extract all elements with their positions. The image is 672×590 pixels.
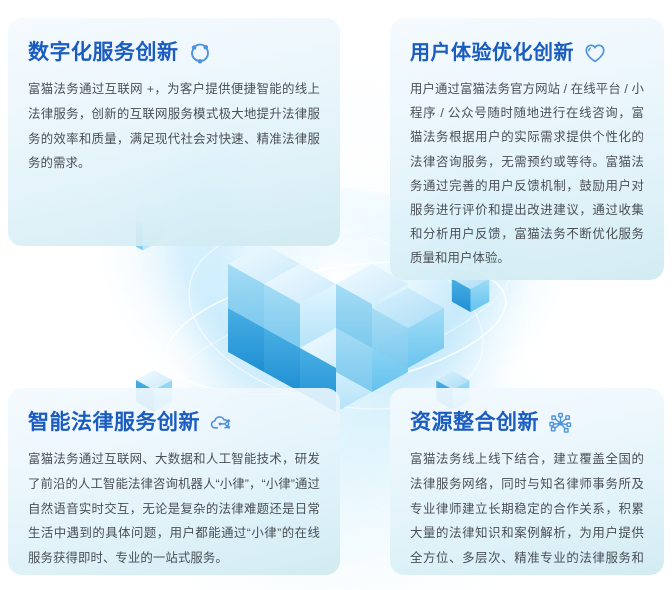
card-body: 富猫法务通过互联网 +，为客户提供便捷智能的线上法律服务，创新的互联网服务模式极… [28,77,320,176]
card-header: 数字化服务创新 [28,40,320,66]
page-root: 数字化服务创新 富猫法务通过互联网 +，为客户提供便捷智能的线上法律服务，创新的… [0,0,672,590]
card-header: 智能法律服务创新 [28,410,320,436]
card-body: 富猫法务线上线下结合，建立覆盖全国的法律服务网络，同时与知名律师事务所及专业律师… [410,447,644,575]
card-title: 数字化服务创新 [28,41,179,64]
cloud-ai-icon [208,410,234,436]
node-network-icon [547,410,573,436]
card-header: 资源整合创新 [410,410,644,436]
network-circle-icon [187,40,213,66]
card-body: 富猫法务通过互联网、大数据和人工智能技术，研发了前沿的人工智能法律咨询机器人“小… [28,447,320,571]
card-digital-service-innovation: 数字化服务创新 富猫法务通过互联网 +，为客户提供便捷智能的线上法律服务，创新的… [8,18,340,246]
heart-icon [582,40,608,66]
card-body: 用户通过富猫法务官方网站 / 在线平台 / 小程序 / 公众号随时随地进行在线咨… [410,77,644,271]
card-intelligent-legal-service-innovation: 智能法律服务创新 富猫法务通过互联网、大数据和人工智能技术，研发了前沿的人工智能… [8,388,340,575]
card-title: 智能法律服务创新 [28,411,200,434]
card-resource-integration-innovation: 资源整合创新 富猫法务线上线下结合，建立覆盖全国的法律服务网络，同时与知名律师事… [390,388,664,575]
card-title: 用户体验优化创新 [410,42,574,64]
card-title: 资源整合创新 [410,411,539,434]
card-header: 用户体验优化创新 [410,40,644,66]
card-user-experience-innovation: 用户体验优化创新 用户通过富猫法务官方网站 / 在线平台 / 小程序 / 公众号… [390,18,664,280]
